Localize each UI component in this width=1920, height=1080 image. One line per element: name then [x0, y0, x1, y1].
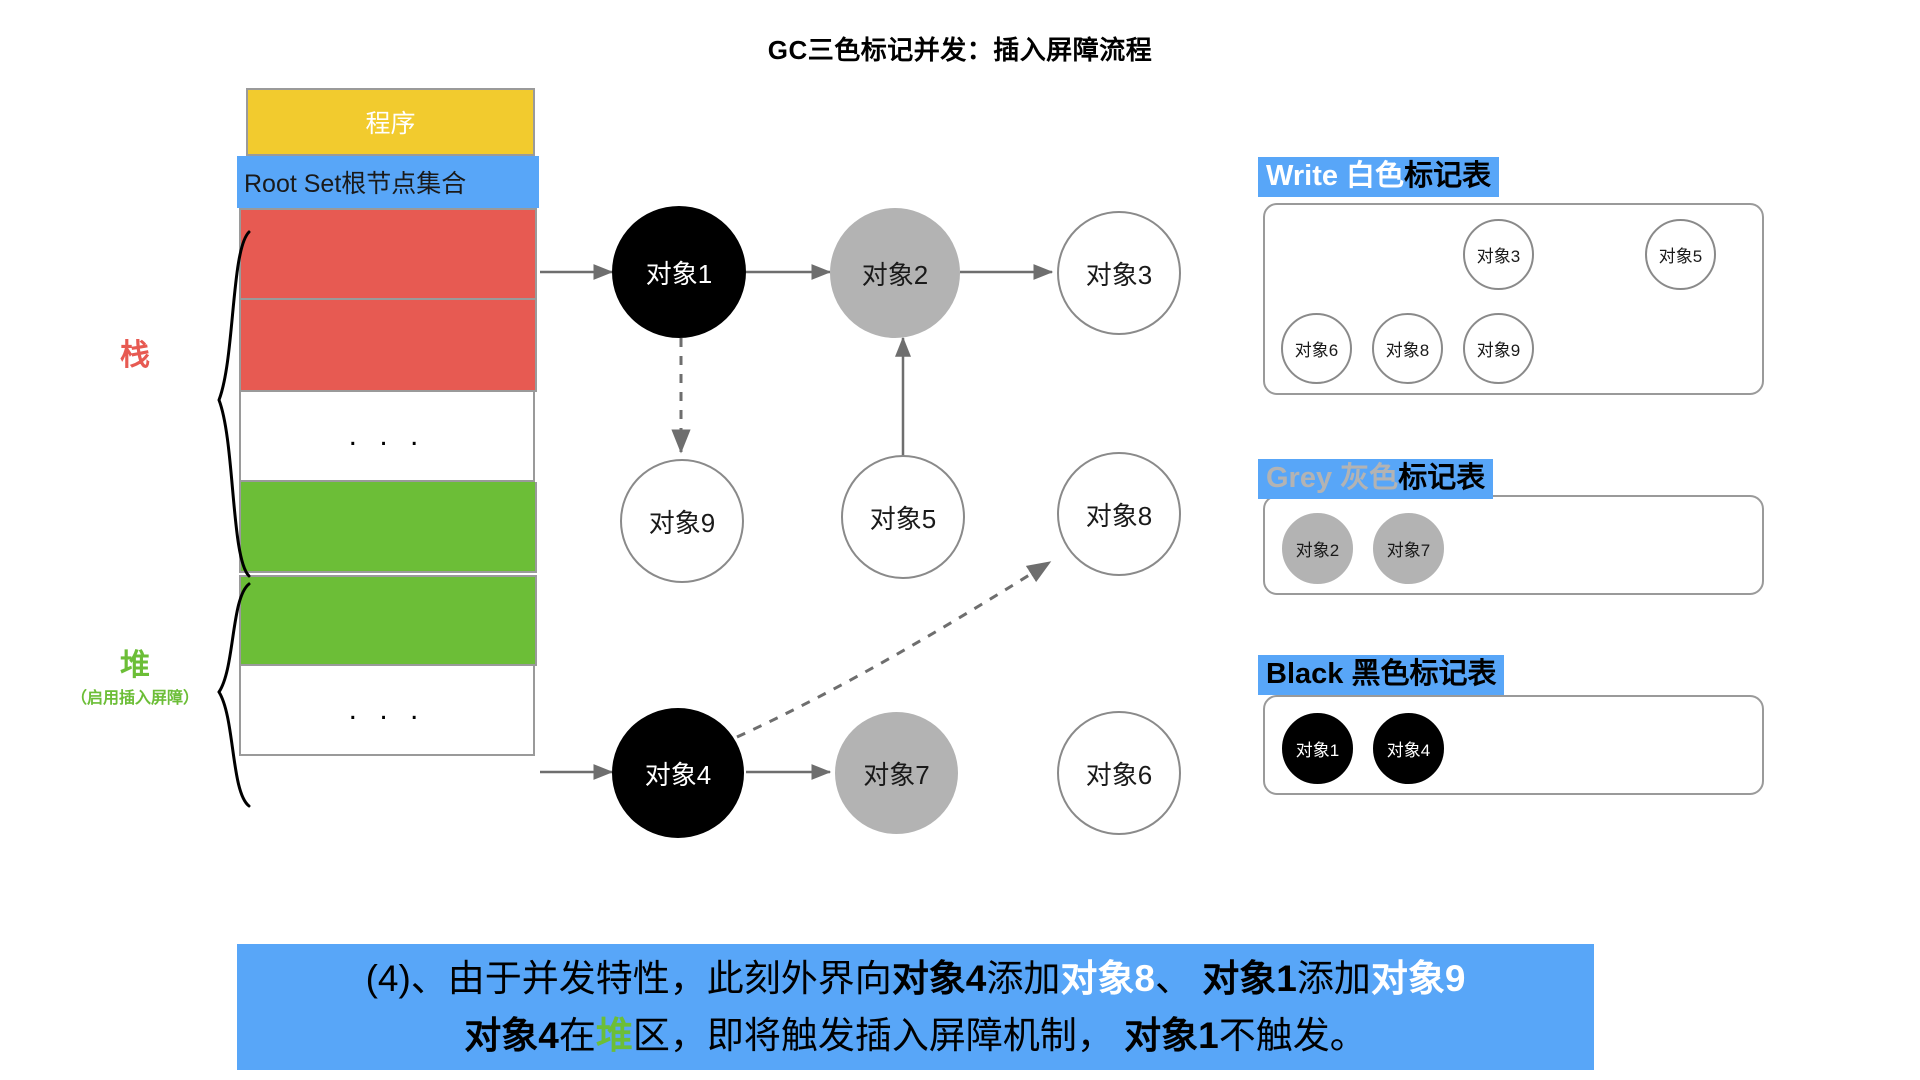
graph-node-obj1[interactable]: 对象1	[612, 206, 746, 338]
white-table-chip-obj8-label: 对象8	[1386, 336, 1429, 361]
graph-node-obj4[interactable]: 对象4	[612, 708, 744, 838]
memory-block-heap-ellipsis: . . .	[239, 666, 535, 756]
graph-node-obj3-label: 对象3	[1086, 255, 1152, 292]
memory-block-stack-slot-1	[239, 208, 537, 300]
grey-table-chip-obj2-label: 对象2	[1296, 536, 1339, 561]
memory-block-stack-ellipsis: . . .	[239, 392, 535, 482]
graph-node-obj7[interactable]: 对象7	[835, 712, 958, 834]
white-table-chip-obj3-label: 对象3	[1477, 242, 1520, 267]
grey-table-title-part-0: Grey	[1266, 462, 1340, 494]
grey-table-title-part-1: 灰色	[1340, 462, 1398, 494]
graph-node-obj6[interactable]: 对象6	[1057, 711, 1181, 835]
memory-block-heap-slot-1	[239, 482, 537, 573]
grey-table-chip-obj7[interactable]: 对象7	[1373, 513, 1444, 584]
white-table-chip-obj9-label: 对象9	[1477, 336, 1520, 361]
white-table-title-part-1: 白色	[1346, 160, 1404, 192]
caption-l2-p3: 区，即将触发插入屏障机制，	[633, 1015, 1114, 1056]
caption-banner: (4)、由于并发特性，此刻外界向对象4添加对象8、 对象1添加对象9 对象4在堆…	[237, 944, 1594, 1070]
white-mark-table-title: Write 白色标记表	[1258, 157, 1499, 197]
graph-node-obj4-label: 对象4	[645, 755, 711, 792]
black-table-title-part-0: Black	[1266, 658, 1351, 690]
caption-l1-p0: (4)、由于并发特性，此刻外界向	[366, 958, 892, 999]
stack-ellipsis-label: . . .	[349, 419, 426, 453]
memory-block-stack-slot-2	[239, 300, 537, 392]
graph-node-obj9-label: 对象9	[649, 503, 715, 540]
white-table-chip-obj6-label: 对象6	[1295, 336, 1338, 361]
caption-l2-p5: 不触发。	[1219, 1015, 1367, 1056]
white-table-chip-obj3[interactable]: 对象3	[1463, 219, 1534, 290]
heap-region-label: 堆	[40, 640, 230, 684]
caption-l1-p3: 对象8	[1060, 958, 1155, 999]
memory-block-root-set: Root Set根节点集合	[237, 156, 539, 208]
black-table-title-part-1: 黑色	[1351, 658, 1409, 690]
caption-l1-p2: 添加	[986, 958, 1060, 999]
caption-l1-p1: 对象4	[892, 958, 987, 999]
graph-node-obj9[interactable]: 对象9	[620, 459, 744, 583]
white-table-chip-obj9[interactable]: 对象9	[1463, 313, 1534, 384]
heap-region-sublabel: （启用插入屏障）	[40, 684, 230, 708]
grey-mark-table-title: Grey 灰色标记表	[1258, 459, 1493, 499]
heap-brace-icon	[205, 580, 253, 810]
graph-node-obj6-label: 对象6	[1086, 755, 1152, 792]
caption-l1-p5: 对象1	[1202, 958, 1297, 999]
grey-table-chip-obj2[interactable]: 对象2	[1282, 513, 1353, 584]
graph-node-obj7-label: 对象7	[863, 755, 929, 792]
black-table-title-part-2: 标记表	[1409, 658, 1496, 690]
white-table-chip-obj5[interactable]: 对象5	[1645, 219, 1716, 290]
graph-node-obj5-label: 对象5	[870, 499, 936, 536]
black-table-chip-obj4[interactable]: 对象4	[1373, 713, 1444, 784]
heap-ellipsis-label: . . .	[349, 693, 426, 727]
memory-block-root-set-label: Root Set根节点集合	[244, 164, 466, 200]
grey-table-title-part-2: 标记表	[1398, 462, 1485, 494]
graph-node-obj8[interactable]: 对象8	[1057, 452, 1181, 576]
stack-region-label: 栈	[80, 330, 190, 374]
memory-block-program-label: 程序	[365, 104, 415, 140]
white-table-chip-obj5-label: 对象5	[1659, 242, 1702, 267]
caption-l2-p4: 对象1	[1114, 1015, 1219, 1056]
caption-l2-p2: 堆	[596, 1015, 633, 1056]
black-table-chip-obj4-label: 对象4	[1387, 736, 1430, 761]
caption-l1-p4: 、	[1155, 958, 1202, 999]
black-mark-table-title: Black 黑色标记表	[1258, 655, 1504, 695]
stack-brace-icon	[205, 228, 253, 580]
memory-column: 程序 Root Set根节点集合 . . . . . .	[237, 88, 539, 756]
graph-node-obj8-label: 对象8	[1086, 496, 1152, 533]
caption-line-2: 对象4在堆区，即将触发插入屏障机制， 对象1不触发。	[464, 1007, 1366, 1064]
black-table-chip-obj1-label: 对象1	[1296, 736, 1339, 761]
graph-node-obj2[interactable]: 对象2	[830, 208, 960, 338]
caption-l2-p1: 在	[559, 1015, 596, 1056]
graph-node-obj1-label: 对象1	[646, 254, 712, 291]
white-table-chip-obj8[interactable]: 对象8	[1372, 313, 1443, 384]
diagram-canvas: GC三色标记并发：插入屏障流程 程序 Root Set根节点集合 . . . .…	[0, 0, 1920, 1080]
caption-l1-p6: 添加	[1297, 958, 1371, 999]
graph-node-obj2-label: 对象2	[862, 255, 928, 292]
caption-line-1: (4)、由于并发特性，此刻外界向对象4添加对象8、 对象1添加对象9	[366, 950, 1466, 1007]
memory-block-heap-slot-2	[239, 575, 537, 666]
caption-l1-p7: 对象9	[1371, 958, 1466, 999]
grey-table-chip-obj7-label: 对象7	[1387, 536, 1430, 561]
page-title: GC三色标记并发：插入屏障流程	[0, 30, 1920, 67]
graph-node-obj5[interactable]: 对象5	[841, 455, 965, 579]
graph-node-obj3[interactable]: 对象3	[1057, 211, 1181, 335]
white-table-chip-obj6[interactable]: 对象6	[1281, 313, 1352, 384]
white-table-title-part-0: Write	[1266, 160, 1346, 192]
memory-block-program: 程序	[246, 88, 535, 156]
black-table-chip-obj1[interactable]: 对象1	[1282, 713, 1353, 784]
white-table-title-part-2: 标记表	[1404, 160, 1491, 192]
caption-l2-p0: 对象4	[464, 1015, 559, 1056]
